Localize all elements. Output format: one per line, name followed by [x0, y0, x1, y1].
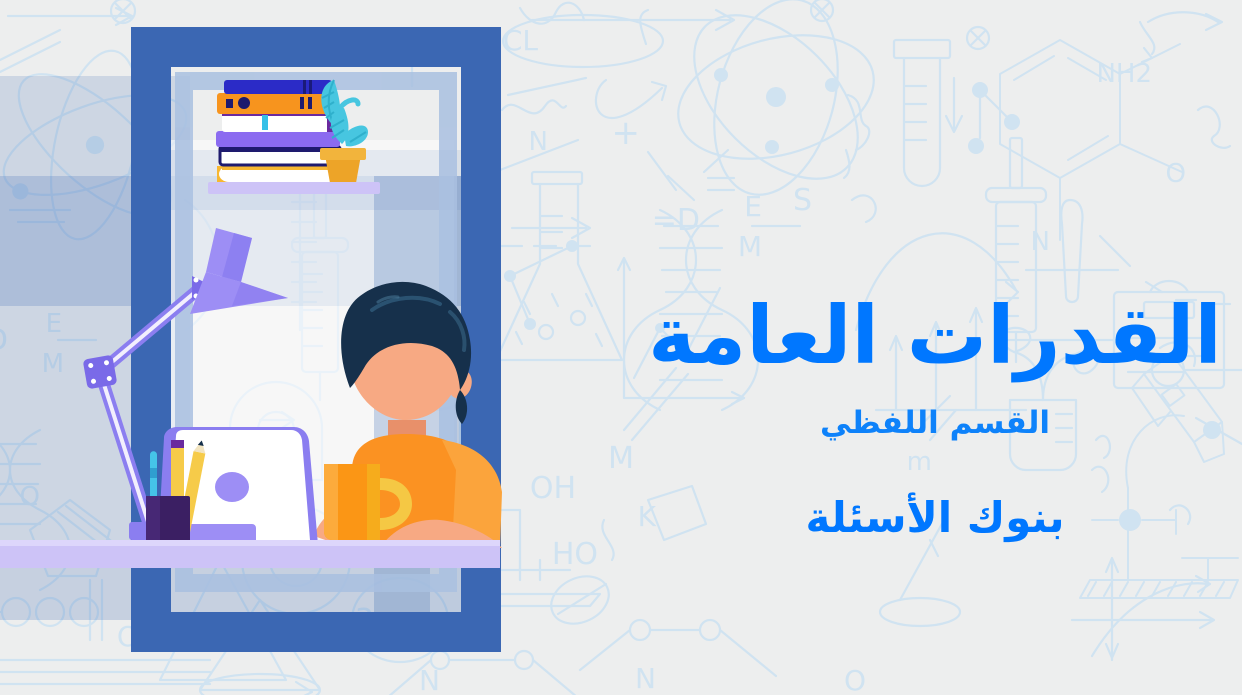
- question-bank-banner: بنوك الأسئلة: [640, 493, 1230, 542]
- shelf-board: [208, 182, 380, 194]
- student-at-desk-illustration: [0, 0, 560, 695]
- shelf-unit: [208, 80, 380, 194]
- poster-canvas: D= E M O OH x: [0, 0, 1242, 695]
- page-subtitle: القسم اللفظي: [640, 405, 1230, 441]
- text-block: القدرات العامة القسم اللفظي بنوك الأسئلة: [620, 0, 1242, 695]
- page-title: القدرات العامة: [640, 296, 1230, 376]
